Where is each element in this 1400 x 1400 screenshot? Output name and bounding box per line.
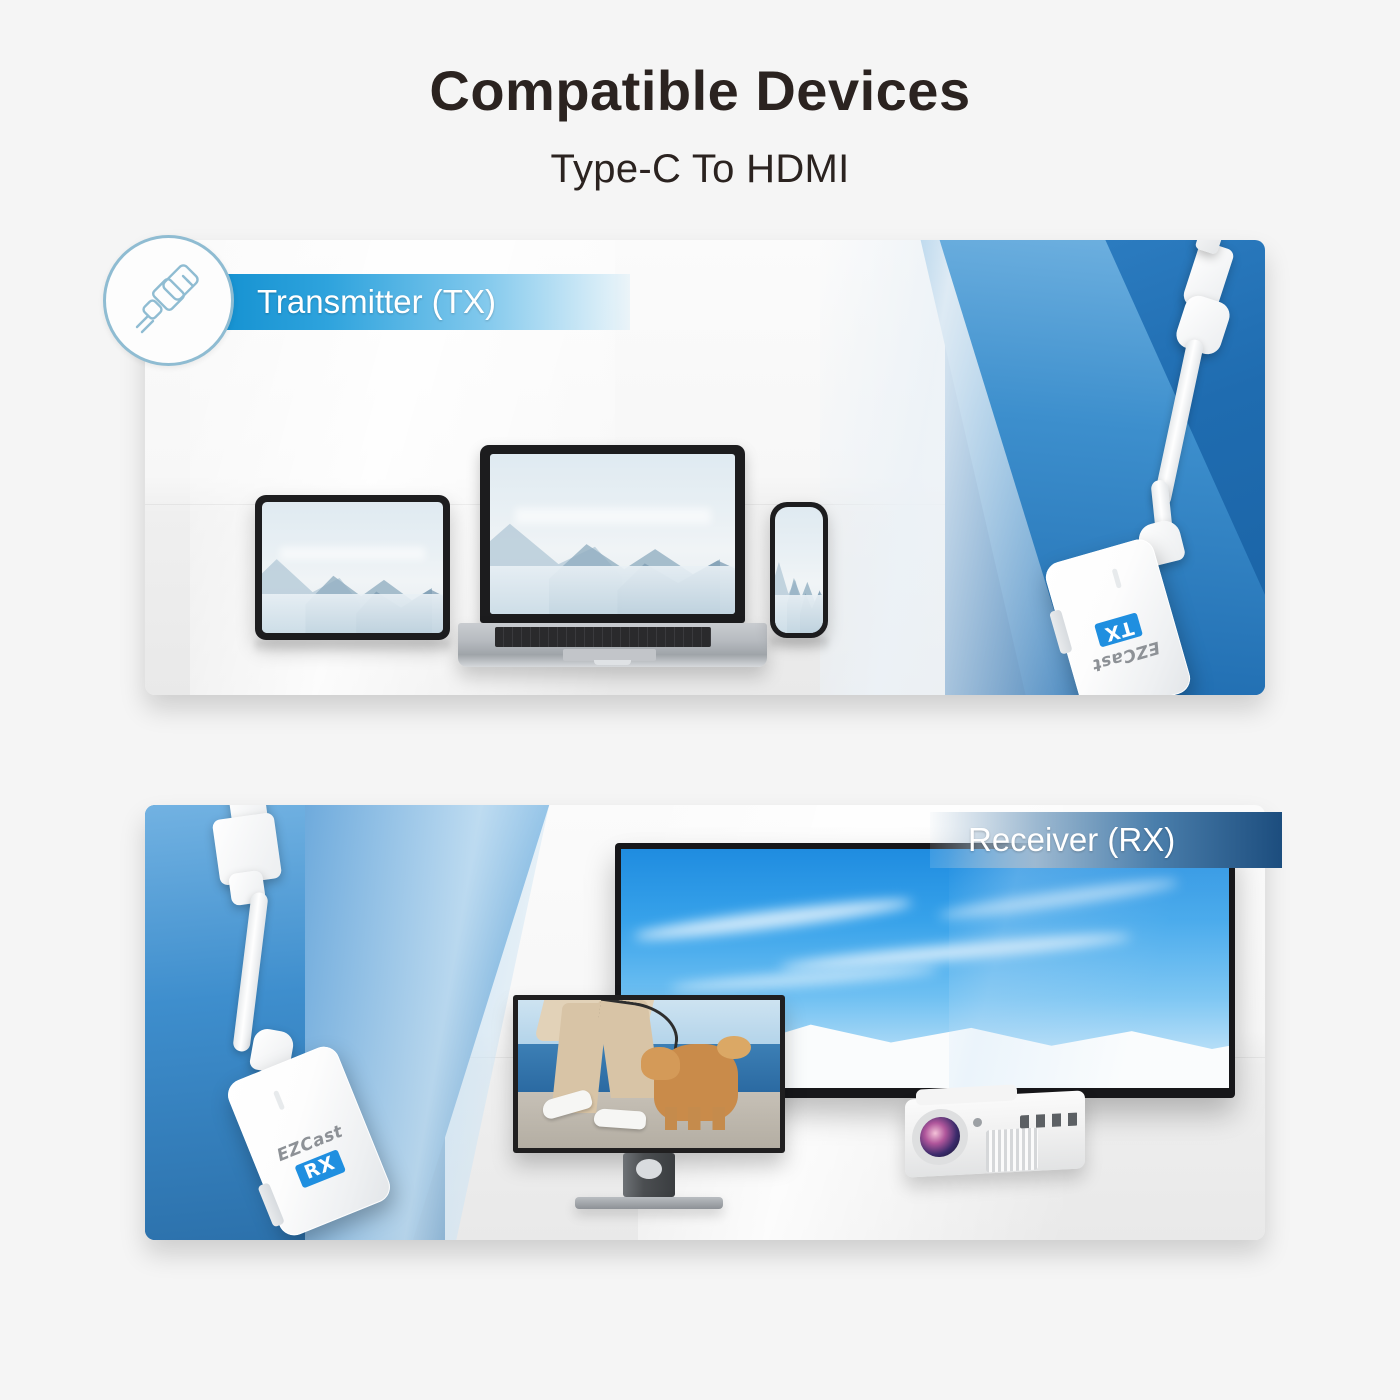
transmitter-badge-label: Transmitter (TX): [257, 283, 496, 321]
tablet-reflection: [255, 640, 450, 654]
phone-reflection: [770, 638, 828, 652]
device-smartphone: [770, 502, 828, 638]
rx-dongle-branding: EZCast RX: [252, 1114, 379, 1202]
tx-dongle-assembly: EZCast TX: [1050, 240, 1265, 660]
monitor-frame: [513, 995, 785, 1153]
laptop-front-notch: [594, 660, 631, 665]
laptop-lid: [480, 445, 745, 623]
receiver-panel: EZCast RX: [145, 805, 1265, 1240]
tx-brand-tag: TX: [1094, 612, 1143, 647]
monitor-stand-base: [575, 1197, 723, 1209]
tx-dongle-led: [1112, 568, 1122, 589]
phone-screen: [775, 507, 823, 633]
rx-dongle-led: [273, 1090, 285, 1110]
receiver-badge-label: Receiver (RX): [968, 821, 1175, 859]
transmitter-badge: Transmitter (TX): [185, 274, 630, 330]
wallpaper-dog-walk: [518, 1000, 780, 1148]
page-header: Compatible Devices Type-C To HDMI: [0, 0, 1400, 192]
device-tablet: [255, 495, 450, 640]
usb-c-connector-icon-badge: [103, 235, 234, 366]
wallpaper-misty-mountains: [490, 454, 735, 614]
page-title: Compatible Devices: [0, 62, 1400, 121]
wallpaper-misty-mountains: [262, 502, 443, 633]
device-laptop: [480, 445, 745, 667]
phone-frame: [770, 502, 828, 638]
device-monitor: [513, 995, 785, 1153]
projector-vent-grille: [986, 1128, 1038, 1173]
laptop-screen: [490, 454, 735, 614]
projector-ports: [1020, 1112, 1078, 1128]
tx-dongle-branding: EZCast TX: [1061, 603, 1182, 679]
tablet-frame: [255, 495, 450, 640]
laptop-keyboard: [495, 627, 711, 647]
monitor-screen: [518, 1000, 780, 1148]
wallpaper-misty-mountains: [775, 507, 823, 633]
rx-dongle-body[interactable]: EZCast RX: [223, 1042, 395, 1240]
laptop-base: [458, 623, 767, 667]
rx-dongle-assembly: EZCast RX: [190, 805, 480, 1230]
receiver-badge: Receiver (RX): [930, 812, 1282, 868]
device-projector: [905, 1095, 1085, 1173]
usb-c-connector-icon: [126, 258, 212, 344]
monitor-stand-neck: [623, 1153, 675, 1197]
tablet-screen: [262, 502, 443, 633]
page-subtitle: Type-C To HDMI: [0, 121, 1400, 192]
